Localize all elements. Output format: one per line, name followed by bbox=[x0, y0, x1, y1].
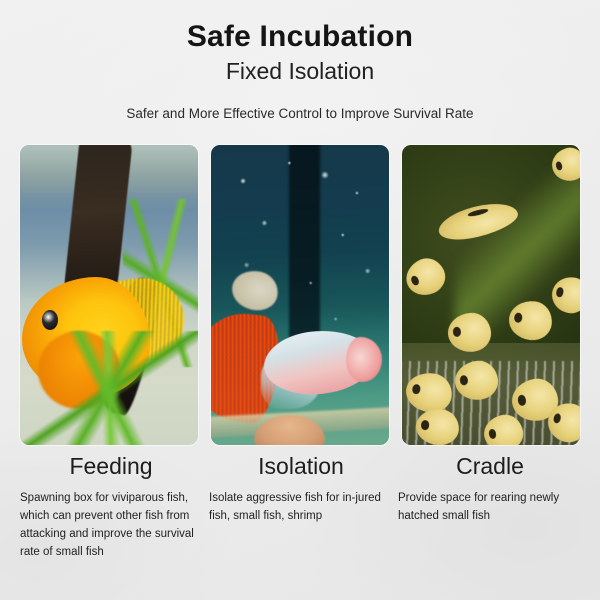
caption-body-feeding: Spawning box for viviparous fish, which … bbox=[20, 480, 196, 561]
caption-isolation: Isolation Isolate aggressive fish for in… bbox=[209, 452, 391, 561]
fry-fish bbox=[402, 253, 450, 302]
header: Safe Incubation Fixed Isolation Safer an… bbox=[0, 0, 600, 122]
molly-eye bbox=[42, 310, 58, 330]
page-title: Safe Incubation bbox=[0, 0, 600, 54]
photo-panel-cradle bbox=[402, 145, 580, 445]
caption-body-isolation: Isolate aggressive fish for in-jured fis… bbox=[209, 480, 383, 525]
page-subtitle: Fixed Isolation bbox=[0, 54, 600, 85]
photo-panel-feeding bbox=[20, 145, 198, 445]
caption-cradle: Cradle Provide space for rearing newly h… bbox=[398, 452, 580, 561]
caption-title-feeding: Feeding bbox=[20, 452, 202, 480]
caption-title-cradle: Cradle bbox=[398, 452, 580, 480]
caption-row: Feeding Spawning box for viviparous fish… bbox=[20, 452, 580, 561]
caption-feeding: Feeding Spawning box for viviparous fish… bbox=[20, 452, 202, 561]
caption-body-cradle: Provide space for rearing newly hatched … bbox=[398, 480, 574, 525]
aquatic-plant-foreground bbox=[20, 331, 198, 445]
photo-panel-isolation bbox=[211, 145, 389, 445]
infographic-page: Safe Incubation Fixed Isolation Safer an… bbox=[0, 0, 600, 600]
caption-title-isolation: Isolation bbox=[209, 452, 391, 480]
photo-panel-row bbox=[20, 145, 580, 445]
page-tagline: Safer and More Effective Control to Impr… bbox=[0, 85, 600, 122]
